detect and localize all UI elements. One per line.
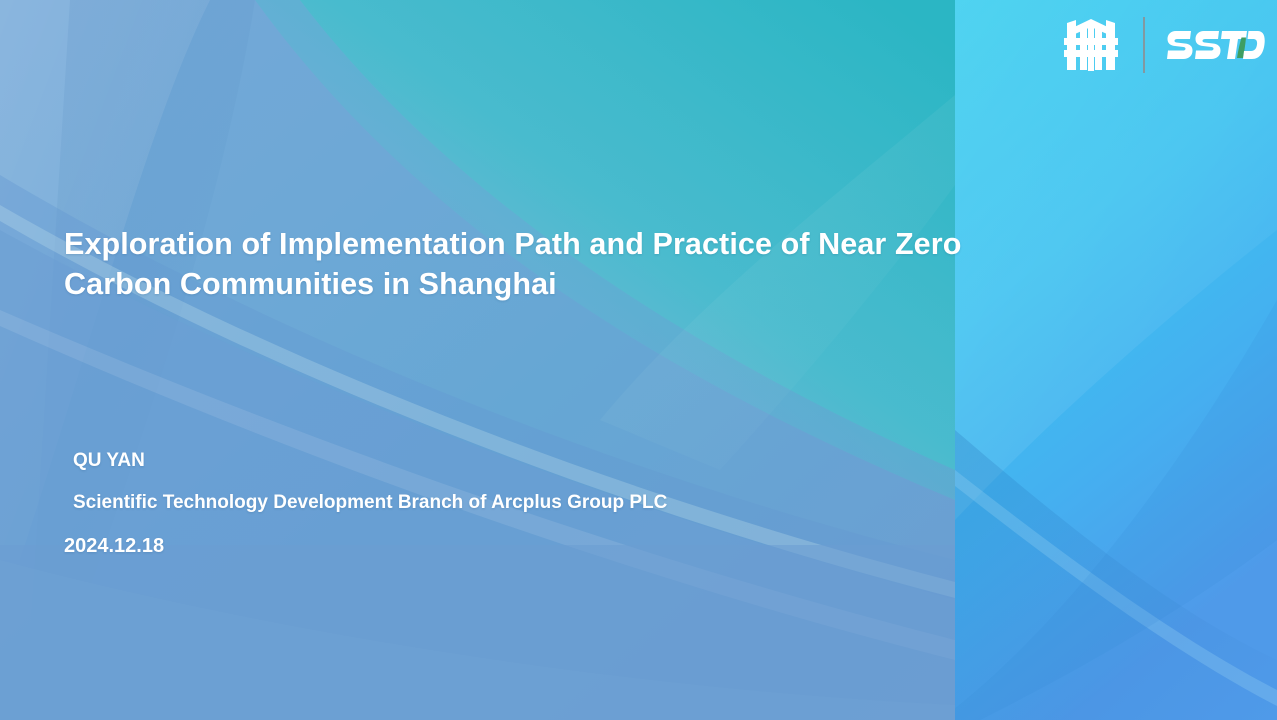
title-slide: Exploration of Implementation Path and P… (0, 0, 1277, 720)
author-name: QU YAN (64, 440, 964, 482)
presentation-date: 2024.12.18 (64, 524, 964, 568)
sstd-logo (1064, 14, 1266, 76)
affiliation: Scientific Technology Development Branch… (64, 482, 964, 524)
slide-background (0, 0, 1277, 720)
background-artwork (0, 0, 1277, 720)
page-title: Exploration of Implementation Path and P… (64, 224, 999, 304)
logo-divider (1143, 17, 1145, 73)
byline-block: QU YAN Scientific Technology Development… (64, 440, 964, 568)
arcplus-building-mark-icon (1064, 17, 1118, 73)
sstd-wordmark-icon (1167, 25, 1265, 65)
